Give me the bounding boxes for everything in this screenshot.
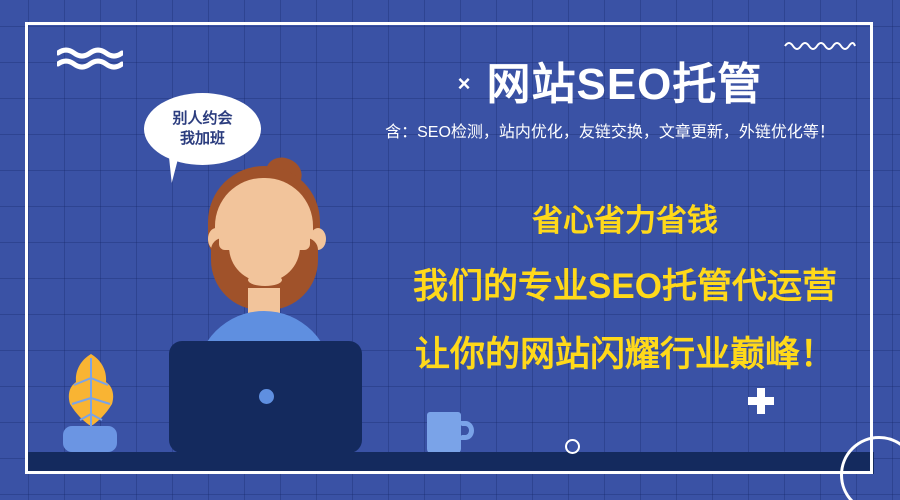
- headline-group: 省心省力省钱 我们的专业SEO托管代运营 让你的网站闪耀行业巅峰！: [382, 195, 868, 377]
- wave-lines-icon: [57, 46, 123, 70]
- mug-handle: [457, 421, 474, 440]
- plus-icon: [748, 388, 774, 414]
- laptop-logo-dot: [259, 389, 274, 404]
- upper-face: [219, 208, 310, 250]
- torso: [196, 311, 332, 421]
- speech-bubble: 别人约会 我加班: [144, 93, 261, 165]
- subtitle: 含：SEO检测，站内优化，友链交换，文章更新，外链优化等！: [340, 118, 880, 142]
- headline-line-3: 让你的网站闪耀行业巅峰！: [382, 326, 868, 377]
- mouth: [248, 274, 282, 286]
- ear-left: [208, 228, 224, 250]
- beard: [211, 238, 318, 310]
- title-row: × 网站SEO托管: [350, 48, 870, 112]
- hair: [208, 166, 320, 258]
- neck: [248, 288, 280, 328]
- page-title: 网站SEO托管: [486, 48, 762, 112]
- laptop-icon: [169, 341, 362, 453]
- ear-right: [310, 228, 326, 250]
- corner-circle-icon: [840, 436, 900, 500]
- lower-face: [229, 236, 300, 282]
- speech-bubble-line-1: 别人约会: [172, 109, 232, 129]
- headline-line-2: 我们的专业SEO托管代运营: [382, 258, 868, 309]
- hair-tuft: [263, 155, 304, 192]
- head: [215, 178, 313, 298]
- desk: [28, 452, 874, 474]
- speech-bubble-line-2: 我加班: [180, 129, 225, 149]
- potted-plant-icon: [60, 352, 122, 434]
- circle-outline-icon: [565, 439, 580, 454]
- plant-pot: [63, 426, 117, 452]
- close-icon: ×: [458, 73, 471, 95]
- coffee-mug-icon: [427, 412, 461, 454]
- headline-line-1: 省心省力省钱: [382, 195, 868, 240]
- seo-hosting-banner: × 网站SEO托管 含：SEO检测，站内优化，友链交换，文章更新，外链优化等！ …: [0, 0, 900, 500]
